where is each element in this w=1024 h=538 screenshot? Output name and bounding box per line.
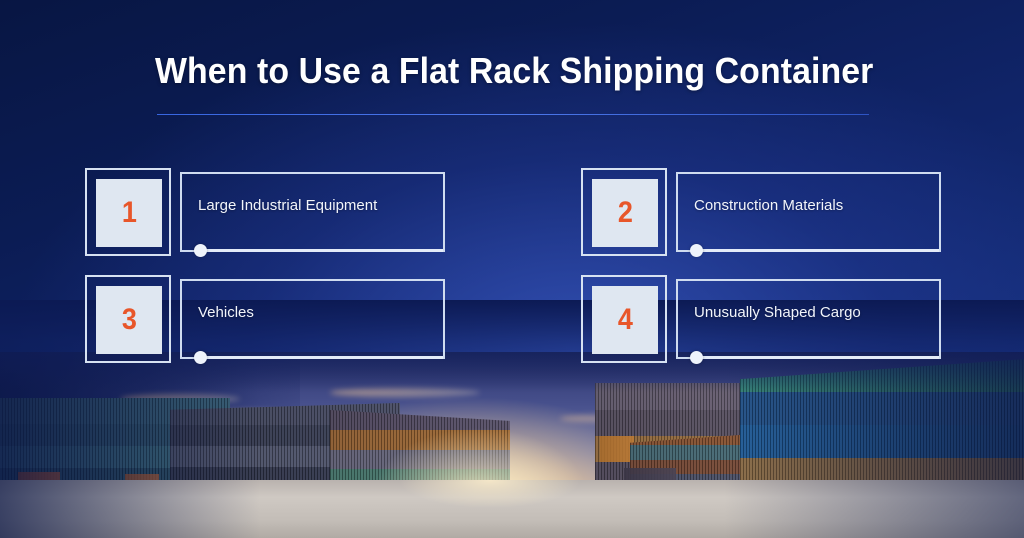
item-label: Vehicles xyxy=(198,303,433,322)
item-accent-dot xyxy=(690,351,703,364)
number-frame: 3 xyxy=(85,275,171,363)
number-box: 3 xyxy=(96,286,162,354)
item-panel[interactable]: Vehicles xyxy=(180,279,445,359)
item-panel[interactable]: Unusually Shaped Cargo xyxy=(676,279,941,359)
item-accent-dot xyxy=(194,351,207,364)
item-panel[interactable]: Large Industrial Equipment xyxy=(180,172,445,252)
number-frame: 1 xyxy=(85,168,171,256)
number-box: 4 xyxy=(592,286,658,354)
item-panel[interactable]: Construction Materials xyxy=(676,172,941,252)
title-underline xyxy=(157,114,869,115)
list-item[interactable]: 3 Vehicles xyxy=(85,275,445,363)
item-number: 4 xyxy=(617,305,632,335)
item-number: 3 xyxy=(121,305,136,335)
list-item[interactable]: 4 Unusually Shaped Cargo xyxy=(581,275,941,363)
item-label: Unusually Shaped Cargo xyxy=(694,303,929,322)
number-box: 1 xyxy=(96,179,162,247)
infographic-canvas: When to Use a Flat Rack Shipping Contain… xyxy=(0,0,1024,538)
item-accent-dot xyxy=(194,244,207,257)
list-item[interactable]: 2 Construction Materials xyxy=(581,168,941,256)
item-accent-line xyxy=(205,356,443,359)
number-box: 2 xyxy=(592,179,658,247)
number-frame: 4 xyxy=(581,275,667,363)
item-number: 2 xyxy=(617,198,632,228)
item-accent-line xyxy=(701,356,939,359)
item-label: Large Industrial Equipment xyxy=(198,196,433,215)
item-number: 1 xyxy=(121,198,136,228)
item-accent-line xyxy=(701,249,939,252)
item-label: Construction Materials xyxy=(694,196,929,215)
number-frame: 2 xyxy=(581,168,667,256)
page-title: When to Use a Flat Rack Shipping Contain… xyxy=(155,50,869,92)
item-accent-line xyxy=(205,249,443,252)
list-item[interactable]: 1 Large Industrial Equipment xyxy=(85,168,445,256)
item-accent-dot xyxy=(690,244,703,257)
